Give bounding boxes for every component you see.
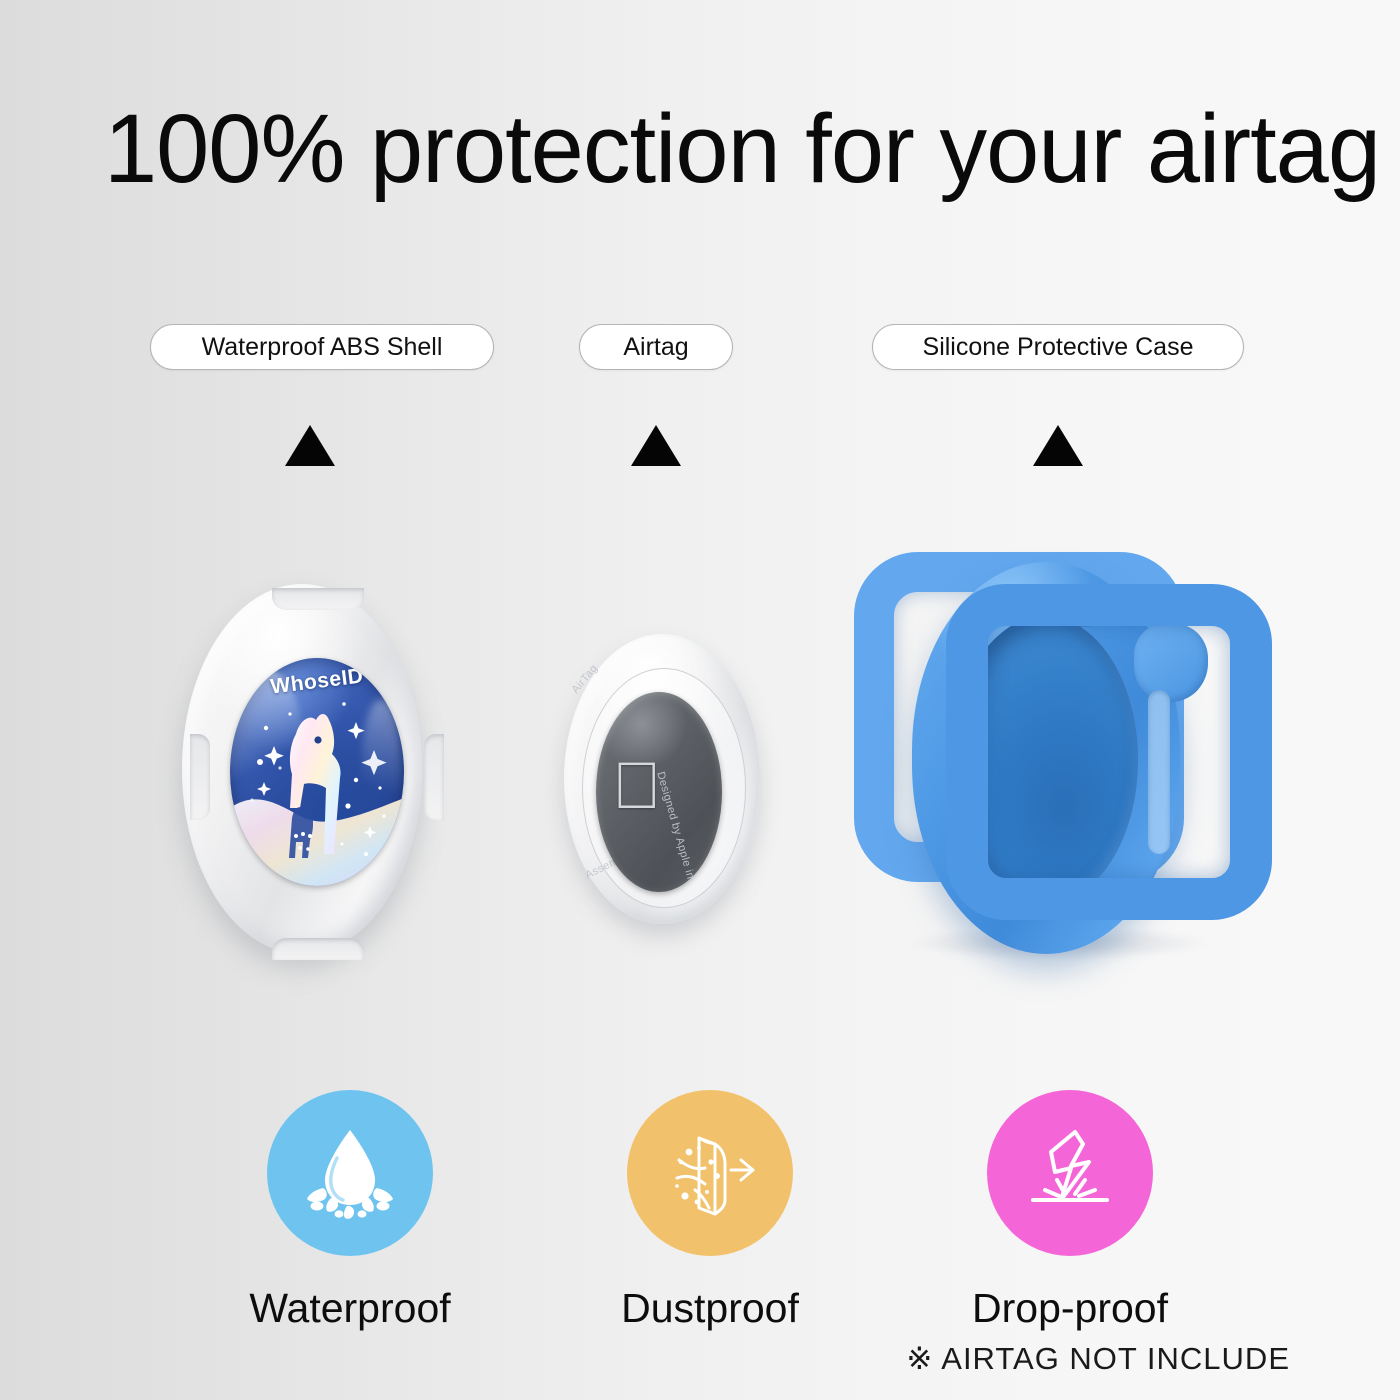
- feature-label-dustproof: Dustproof: [550, 1288, 870, 1329]
- dust-filter-glyph: [655, 1118, 765, 1228]
- silicone-case-front-loop: [946, 584, 1272, 920]
- feature-label-waterproof: Waterproof: [190, 1288, 510, 1329]
- callout-label-waterproof-abs-shell: Waterproof ABS Shell: [150, 324, 494, 370]
- lightning-impact-glyph: [1015, 1118, 1125, 1228]
- callout-label-airtag: Airtag: [579, 324, 733, 370]
- feature-dustproof: Dustproof: [550, 1090, 870, 1329]
- airtag-metal-face:  Designed by Apple in California: [596, 692, 722, 892]
- product-image-airtag: AirTag Assembled in China  Designed by …: [540, 630, 772, 930]
- callout-label-silicone-protective-case: Silicone Protective Case: [872, 324, 1244, 370]
- water-drop-splash-icon: [267, 1090, 433, 1256]
- lightning-impact-icon: [987, 1090, 1153, 1256]
- product-image-silicone-case: [848, 528, 1278, 968]
- infographic-page: 100% protection for your airtag Waterpro…: [0, 0, 1400, 1400]
- abs-shell-body: WhoseID: [182, 584, 422, 954]
- feature-dropproof: Drop-proof: [910, 1090, 1230, 1329]
- feature-label-dropproof: Drop-proof: [910, 1288, 1230, 1329]
- dust-filter-arrow-icon: [627, 1090, 793, 1256]
- abs-shell-notch-top: [272, 588, 364, 610]
- up-arrow-icon-airtag: [631, 425, 681, 466]
- up-arrow-icon-silicone-case: [1033, 425, 1083, 466]
- up-arrow-icon-abs-shell: [285, 425, 335, 466]
- airtag-not-included-note: ※ AIRTAG NOT INCLUDE: [906, 1341, 1290, 1377]
- airtag-engraving-airtag: AirTag: [569, 662, 600, 695]
- abs-shell-notch-left: [190, 734, 210, 820]
- feature-waterproof: Waterproof: [190, 1090, 510, 1329]
- abs-shell-graphic-disc: WhoseID: [230, 658, 404, 886]
- water-drop-glyph: [295, 1118, 405, 1228]
- abs-shell-notch-right: [424, 734, 444, 820]
- abs-shell-notch-bottom: [272, 938, 364, 960]
- product-image-abs-shell: WhoseID: [168, 578, 436, 960]
- page-title: 100% protection for your airtag: [104, 100, 1286, 197]
